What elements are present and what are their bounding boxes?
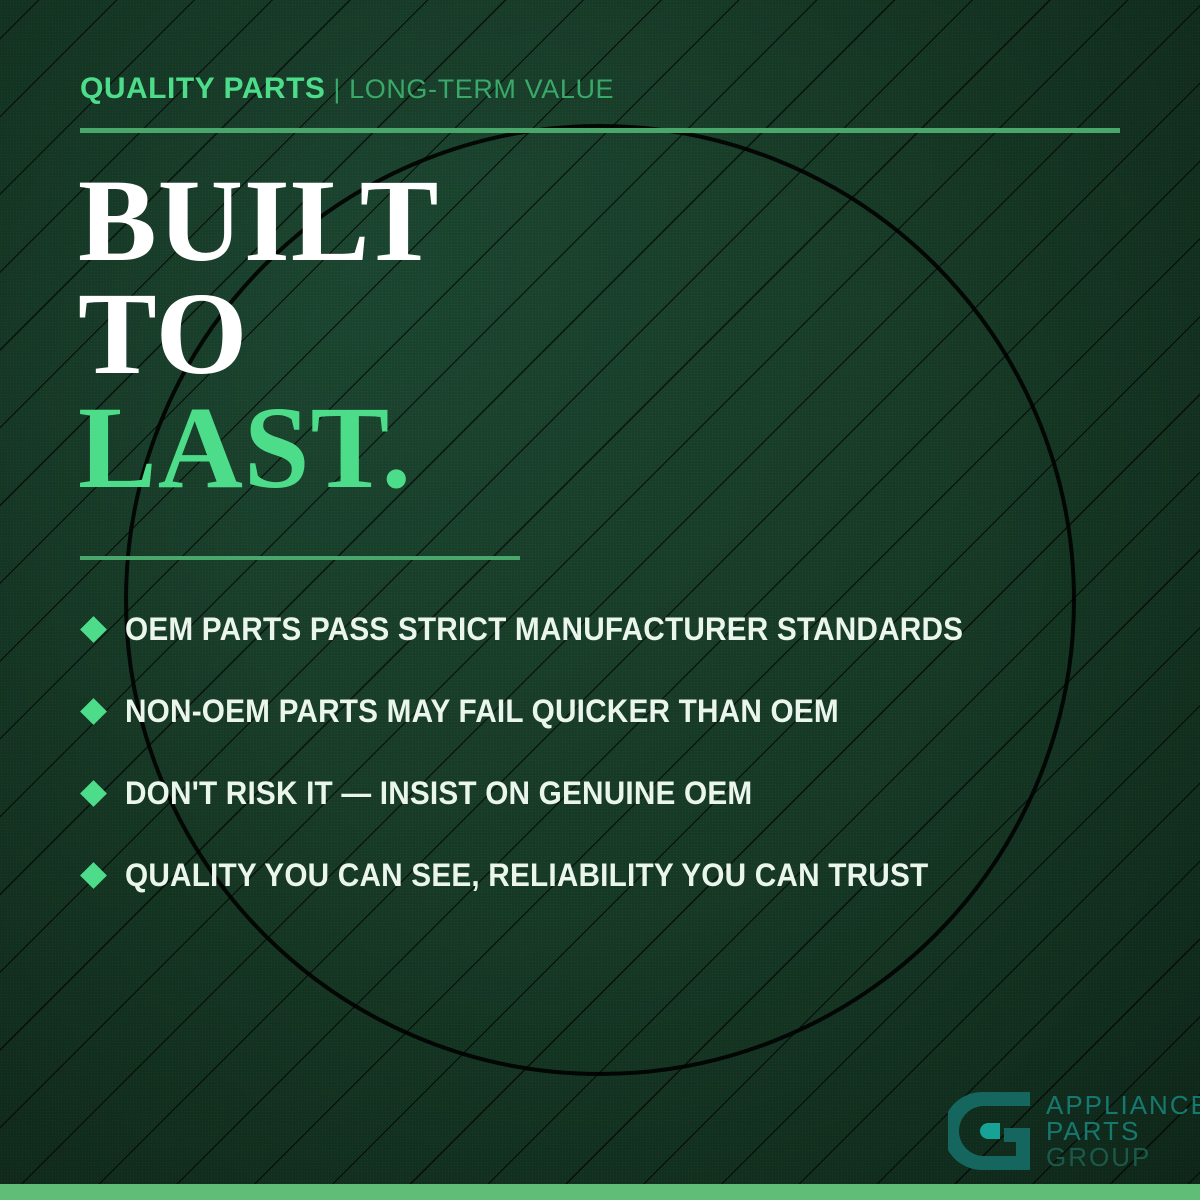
eyebrow-strong-text: QUALITY PARTS bbox=[80, 72, 325, 105]
eyebrow-light-text: | LONG-TERM VALUE bbox=[333, 74, 614, 104]
list-item-label: QUALITY YOU CAN SEE, RELIABILITY YOU CAN… bbox=[125, 857, 928, 894]
headline-line-3: LAST. bbox=[78, 391, 439, 504]
diamond-bullet-icon bbox=[80, 698, 107, 725]
list-item: OEM PARTS PASS STRICT MANUFACTURER STAND… bbox=[80, 588, 1160, 670]
list-item: NON-OEM PARTS MAY FAIL QUICKER THAN OEM bbox=[80, 670, 1160, 752]
list-item-label: NON-OEM PARTS MAY FAIL QUICKER THAN OEM bbox=[125, 693, 839, 730]
benefit-list: OEM PARTS PASS STRICT MANUFACTURER STAND… bbox=[80, 588, 1160, 916]
divider-middle bbox=[80, 556, 520, 560]
brand-word-group: GROUP bbox=[1046, 1144, 1200, 1170]
headline-line-2: TO bbox=[78, 277, 439, 390]
g-logo-icon bbox=[948, 1088, 1034, 1174]
brand-word-parts: PARTS bbox=[1046, 1118, 1200, 1144]
list-item-label: DON'T RISK IT — INSIST ON GENUINE OEM bbox=[125, 775, 752, 812]
eyebrow-heading: QUALITY PARTS| LONG-TERM VALUE bbox=[80, 74, 614, 104]
diamond-bullet-icon bbox=[80, 862, 107, 889]
headline-line-1: BUILT bbox=[78, 164, 439, 277]
page-title: BUILT TO LAST. bbox=[78, 164, 439, 504]
brand-logo: APPLIANCE PARTS GROUP bbox=[948, 1088, 1200, 1174]
poster-canvas: QUALITY PARTS| LONG-TERM VALUE BUILT TO … bbox=[0, 0, 1200, 1200]
list-item: QUALITY YOU CAN SEE, RELIABILITY YOU CAN… bbox=[80, 834, 1160, 916]
brand-word-appliance: APPLIANCE bbox=[1046, 1092, 1200, 1118]
list-item-label: OEM PARTS PASS STRICT MANUFACTURER STAND… bbox=[125, 611, 963, 648]
diamond-bullet-icon bbox=[80, 616, 107, 643]
brand-logo-wordmark: APPLIANCE PARTS GROUP bbox=[1046, 1092, 1200, 1170]
poster-content: QUALITY PARTS| LONG-TERM VALUE BUILT TO … bbox=[0, 0, 1200, 1200]
list-item: DON'T RISK IT — INSIST ON GENUINE OEM bbox=[80, 752, 1160, 834]
bottom-accent-bar bbox=[0, 1184, 1200, 1200]
divider-top bbox=[80, 128, 1120, 133]
diamond-bullet-icon bbox=[80, 780, 107, 807]
